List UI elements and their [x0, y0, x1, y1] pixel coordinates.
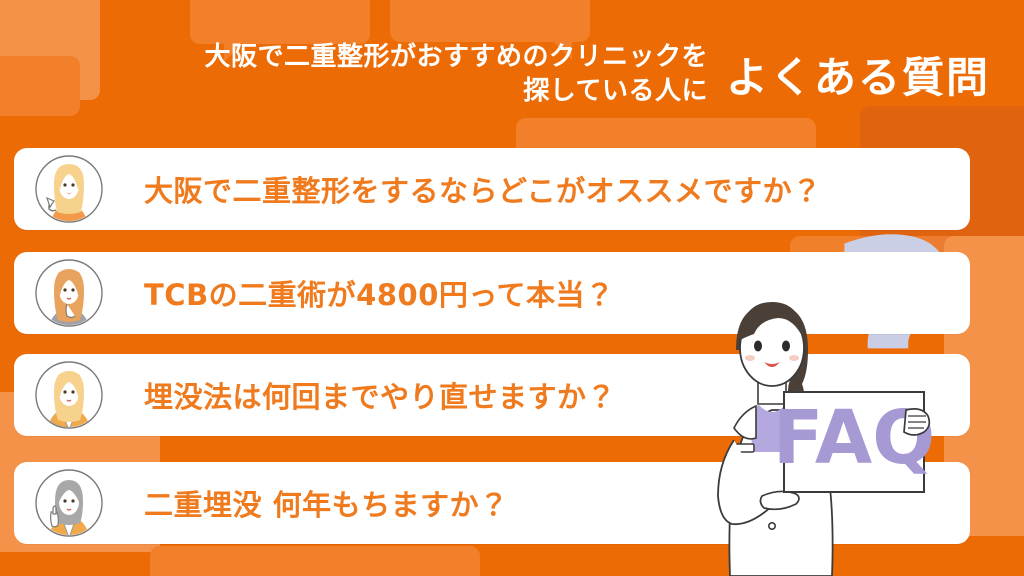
question-tail: って本当？	[468, 278, 614, 312]
header-subtitle: 大阪で二重整形がおすすめのクリニックを 探している人に	[204, 40, 708, 109]
question-lead: 大阪で二重整形をするなら	[144, 174, 498, 208]
question-tail: ？	[479, 488, 509, 522]
question-tail: ですか？	[704, 174, 822, 208]
faq-question-text: 埋没法は何回までやり直せますか？	[144, 374, 616, 416]
avatar-blonde-cardigan-icon	[34, 360, 104, 430]
faq-item[interactable]: 大阪で二重整形をするならどこがオススメですか？	[14, 148, 970, 230]
question-tail: ？	[587, 380, 617, 414]
question-highlight: どこがオススメ	[498, 168, 704, 210]
avatar-orange-hair-grey-top-icon	[34, 258, 104, 328]
faq-banner: ? 大阪で二重整形がおすすめのクリニックを 探している人に よくある質問	[0, 0, 1024, 576]
avatar-grey-hair-pointing-icon	[34, 468, 104, 538]
question-highlight: TCBの二重術が4800円	[144, 272, 468, 314]
question-highlight: 何回までやり直せますか	[262, 374, 587, 416]
page-title: よくある質問	[726, 44, 990, 105]
banner-header: 大阪で二重整形がおすすめのクリニックを 探している人に よくある質問	[0, 24, 1024, 124]
avatar-blonde-orange-top-icon	[34, 154, 104, 224]
doctor-illustration: FAQ	[700, 288, 1000, 576]
question-lead: 埋没法は	[144, 380, 262, 414]
faq-board-label: FAQ	[773, 395, 935, 481]
faq-question-text: TCBの二重術が4800円って本当？	[144, 272, 614, 314]
faq-question-text: 二重埋没 何年もちますか？	[144, 482, 509, 524]
faq-question-text: 大阪で二重整形をするならどこがオススメですか？	[144, 168, 822, 210]
question-highlight: 何年もちますか	[273, 482, 480, 524]
question-lead: 二重埋没	[144, 488, 273, 522]
bg-bubble-7	[150, 546, 480, 576]
